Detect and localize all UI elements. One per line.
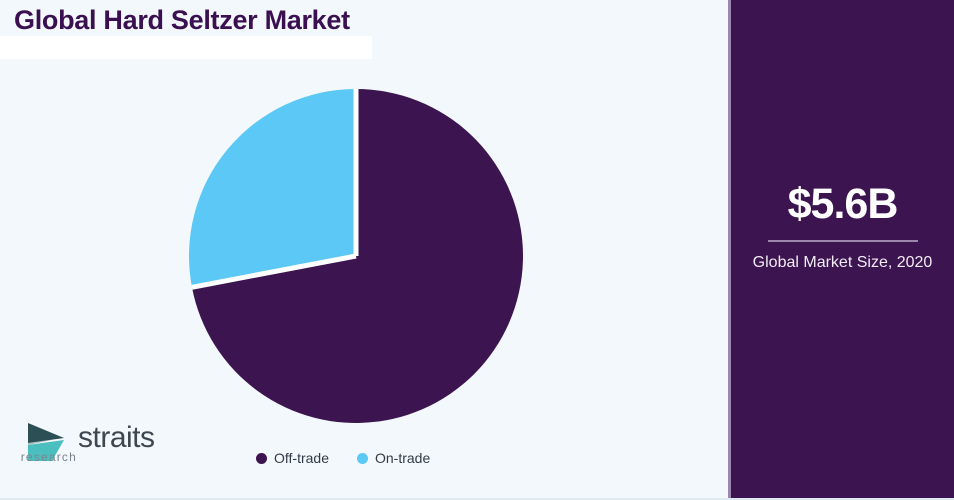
pie-slice-on-trade[interactable] — [189, 89, 356, 287]
pie-chart — [188, 88, 524, 424]
logo-tagline: research — [21, 451, 77, 463]
legend-item-label: Off-trade — [274, 450, 329, 466]
header: Global Hard Seltzer Market — [0, 0, 728, 70]
legend-item-off-trade[interactable]: Off-trade — [256, 450, 329, 466]
pie-chart-svg — [188, 88, 524, 424]
stat-panel: $5.6B Global Market Size, 2020 — [728, 0, 954, 498]
page-title: Global Hard Seltzer Market — [14, 5, 350, 36]
legend-item-on-trade[interactable]: On-trade — [357, 450, 430, 466]
stat-value: $5.6B — [788, 183, 898, 226]
chart-legend: Off-trade On-trade — [256, 450, 430, 466]
stat-caption: Global Market Size, 2020 — [748, 253, 938, 274]
straits-research-logo[interactable]: straits research — [24, 420, 78, 464]
infographic-canvas: Global Hard Seltzer Market Off-trade On-… — [0, 0, 954, 500]
legend-item-label: On-trade — [375, 450, 430, 466]
logo-name: straits — [78, 423, 155, 453]
stat-divider — [768, 240, 918, 242]
legend-swatch-icon — [357, 453, 368, 464]
legend-swatch-icon — [256, 453, 267, 464]
page-subtitle — [46, 46, 376, 60]
